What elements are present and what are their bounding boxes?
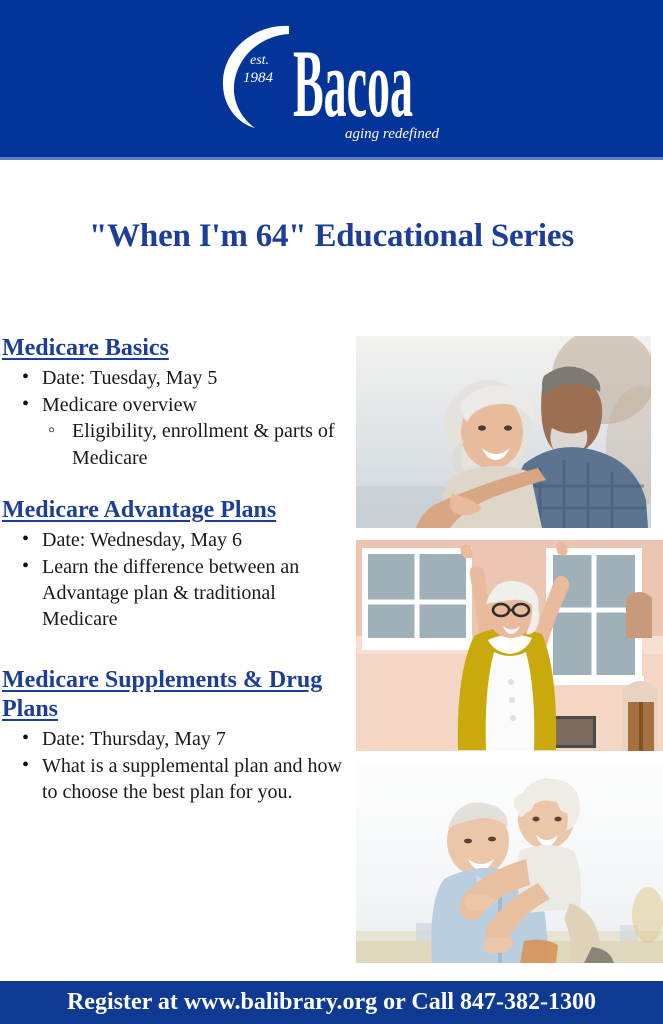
- list-item: Learn the difference between an Advantag…: [0, 554, 352, 632]
- section-subbullet-list: Eligibility, enrollment & parts of Medic…: [42, 418, 352, 472]
- subbullet-text: Eligibility, enrollment & parts of Medic…: [72, 420, 335, 469]
- photo-woman-arms-raised: [356, 540, 663, 751]
- page-title: "When I'm 64" Educational Series: [0, 216, 663, 256]
- bullet-text: Date: Tuesday, May 5: [42, 365, 352, 391]
- bullet-text: Date: Thursday, May 7: [42, 726, 352, 752]
- photo-senior-couple-piggyback: [356, 763, 663, 963]
- photo-senior-couple-embracing: [356, 336, 651, 528]
- header-divider: [0, 157, 663, 160]
- section-medicare-advantage-plans: Medicare Advantage Plans Date: Wednesday…: [0, 496, 352, 632]
- bullet-text: What is a supplemental plan and how to c…: [42, 753, 352, 805]
- section-medicare-supplements-drug-plans: Medicare Supplements & Drug Plans Date: …: [0, 666, 352, 805]
- logo-est-text: est.: [250, 53, 269, 68]
- bullet-text: Date: Wednesday, May 6: [42, 527, 352, 553]
- section-bullet-list: Date: Wednesday, May 6 Learn the differe…: [0, 527, 352, 632]
- section-heading-link[interactable]: Medicare Advantage Plans: [0, 496, 352, 525]
- section-heading-link[interactable]: Medicare Basics: [0, 334, 352, 363]
- logo-tagline: aging redefined: [345, 126, 440, 142]
- bullet-text: Learn the difference between an Advantag…: [42, 554, 352, 632]
- section-bullet-list: Date: Tuesday, May 5 Medicare overview E…: [0, 365, 352, 472]
- list-item: Date: Thursday, May 7: [0, 726, 352, 752]
- list-item: Date: Wednesday, May 6: [0, 527, 352, 553]
- list-item: Eligibility, enrollment & parts of Medic…: [42, 418, 352, 472]
- bullet-text: Medicare overview: [42, 392, 352, 418]
- logo-year-text: 1984: [243, 70, 274, 86]
- section-heading-link[interactable]: Medicare Supplements & Drug Plans: [0, 666, 352, 724]
- section-spacer: [0, 476, 352, 496]
- bacoa-logo: est. 1984 Bacoa aging redefined: [193, 8, 473, 148]
- sections-column: Medicare Basics Date: Tuesday, May 5 Med…: [0, 334, 352, 809]
- list-item: Date: Tuesday, May 5: [0, 365, 352, 391]
- footer-register-text[interactable]: Register at www.balibrary.org or Call 84…: [0, 986, 663, 1018]
- list-item: Medicare overview Eligibility, enrollmen…: [0, 392, 352, 472]
- section-medicare-basics: Medicare Basics Date: Tuesday, May 5 Med…: [0, 334, 352, 472]
- logo-wordmark: Bacoa: [293, 30, 413, 137]
- header-banner: est. 1984 Bacoa aging redefined: [0, 0, 663, 157]
- section-bullet-list: Date: Thursday, May 7 What is a suppleme…: [0, 726, 352, 805]
- list-item: What is a supplemental plan and how to c…: [0, 753, 352, 805]
- section-spacer: [0, 636, 352, 666]
